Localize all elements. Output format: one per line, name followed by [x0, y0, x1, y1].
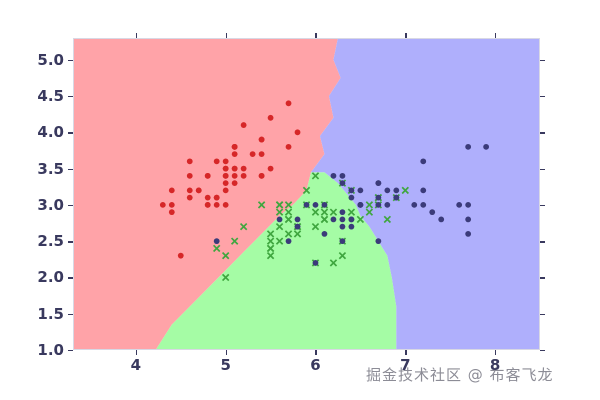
y-tick-mark — [68, 350, 73, 351]
data-point-circle — [375, 195, 381, 201]
data-point-circle — [384, 202, 390, 208]
data-point-circle — [393, 195, 399, 201]
data-point-circle — [277, 217, 283, 223]
data-point-circle — [331, 173, 337, 179]
y-tick-label: 4.0 — [18, 123, 64, 141]
data-point-circle — [340, 217, 346, 223]
data-point-x — [285, 202, 291, 208]
data-point-circle — [375, 180, 381, 186]
data-point-circle — [349, 195, 355, 201]
data-point-circle — [420, 187, 426, 193]
data-point-circle — [250, 151, 256, 157]
y-tick-mark-right — [540, 205, 545, 206]
data-point-circle — [286, 238, 292, 244]
data-point-circle — [465, 217, 471, 223]
data-point-x — [312, 173, 318, 179]
data-point-circle — [241, 122, 247, 128]
data-point-x — [241, 224, 247, 230]
data-point-x — [267, 245, 273, 251]
data-point-circle — [214, 202, 220, 208]
data-point-circle — [349, 217, 355, 223]
data-point-circle — [322, 202, 328, 208]
data-point-circle — [375, 202, 381, 208]
data-point-circle — [169, 209, 175, 215]
data-point-circle — [196, 187, 202, 193]
data-point-x — [312, 209, 318, 215]
data-point-circle — [349, 187, 355, 193]
data-point-circle — [169, 202, 175, 208]
x-tick-mark — [495, 350, 496, 355]
data-point-x — [312, 224, 318, 230]
x-tick-mark-top — [405, 33, 406, 38]
data-point-x — [267, 238, 273, 244]
data-point-circle — [304, 202, 310, 208]
data-point-circle — [214, 158, 220, 164]
data-point-circle — [241, 173, 247, 179]
data-point-x — [276, 202, 282, 208]
data-point-circle — [340, 173, 346, 179]
data-point-circle — [357, 187, 363, 193]
data-point-circle — [313, 260, 319, 266]
y-tick-label: 2.5 — [18, 232, 64, 250]
y-tick-mark — [68, 205, 73, 206]
plot-area[interactable] — [73, 38, 540, 350]
data-point-circle — [465, 202, 471, 208]
data-point-circle — [286, 100, 292, 106]
series-versicolor — [214, 173, 409, 281]
data-point-circle — [187, 158, 193, 164]
y-tick-mark-right — [540, 60, 545, 61]
data-point-circle — [232, 144, 238, 150]
data-point-circle — [420, 202, 426, 208]
data-point-x — [285, 209, 291, 215]
data-point-x — [267, 253, 273, 259]
data-point-circle — [259, 151, 265, 157]
series-setosa — [160, 100, 301, 258]
y-tick-label: 3.0 — [18, 196, 64, 214]
y-tick-mark-right — [540, 314, 545, 315]
x-tick-mark — [315, 350, 316, 355]
y-tick-mark-right — [540, 169, 545, 170]
y-tick-label: 1.5 — [18, 305, 64, 323]
data-point-circle — [295, 217, 301, 223]
data-point-x — [214, 245, 220, 251]
x-tick-mark — [405, 350, 406, 355]
data-point-circle — [214, 195, 220, 201]
data-point-circle — [241, 166, 247, 172]
data-point-x — [285, 216, 291, 222]
data-point-circle — [384, 187, 390, 193]
data-point-x — [223, 274, 229, 280]
data-point-circle — [349, 224, 355, 230]
x-tick-label: 6 — [295, 356, 335, 374]
x-tick-mark-top — [495, 33, 496, 38]
data-point-circle — [187, 195, 193, 201]
data-point-x — [366, 209, 372, 215]
data-point-circle — [259, 173, 265, 179]
data-point-circle — [187, 187, 193, 193]
data-point-circle — [286, 144, 292, 150]
data-point-x — [232, 238, 238, 244]
y-tick-label: 4.5 — [18, 87, 64, 105]
data-point-circle — [331, 217, 337, 223]
data-point-x — [303, 187, 309, 193]
data-point-circle — [214, 238, 220, 244]
data-point-x — [357, 216, 363, 222]
data-point-circle — [169, 187, 175, 193]
x-tick-label: 5 — [206, 356, 246, 374]
data-point-circle — [340, 209, 346, 215]
data-point-circle — [465, 231, 471, 237]
y-tick-mark — [68, 277, 73, 278]
data-point-x — [366, 202, 372, 208]
data-point-circle — [187, 173, 193, 179]
data-point-circle — [357, 202, 363, 208]
data-point-circle — [223, 187, 229, 193]
data-point-x — [402, 187, 408, 193]
y-tick-mark-right — [540, 241, 545, 242]
data-point-x — [321, 216, 327, 222]
y-tick-mark — [68, 241, 73, 242]
data-point-circle — [160, 202, 166, 208]
data-point-x — [330, 260, 336, 266]
y-tick-mark-right — [540, 96, 545, 97]
figure-canvas: 掘金技术社区 @ 布客飞龙 1.01.52.02.53.03.54.04.55.… — [0, 0, 600, 400]
data-point-circle — [438, 217, 444, 223]
y-tick-mark-right — [540, 132, 545, 133]
data-point-circle — [268, 115, 274, 121]
data-point-circle — [313, 202, 319, 208]
y-tick-label: 2.0 — [18, 268, 64, 286]
x-tick-mark — [136, 350, 137, 355]
x-tick-mark — [226, 350, 227, 355]
data-point-x — [384, 216, 390, 222]
data-point-x — [223, 253, 229, 259]
y-tick-mark-right — [540, 277, 545, 278]
data-point-x — [258, 202, 264, 208]
data-point-circle — [340, 180, 346, 186]
y-tick-label: 1.0 — [18, 341, 64, 359]
x-tick-mark-top — [226, 33, 227, 38]
data-point-circle — [223, 166, 229, 172]
y-tick-mark-right — [540, 350, 545, 351]
data-point-circle — [340, 224, 346, 230]
data-point-x — [348, 209, 354, 215]
y-tick-mark — [68, 169, 73, 170]
data-point-circle — [223, 180, 229, 186]
data-point-x — [285, 231, 291, 237]
data-point-circle — [393, 187, 399, 193]
data-point-circle — [205, 173, 211, 179]
data-point-circle — [483, 144, 489, 150]
data-point-x — [339, 253, 345, 259]
data-point-circle — [429, 209, 435, 215]
data-point-circle — [232, 166, 238, 172]
data-point-circle — [411, 202, 417, 208]
data-point-circle — [465, 144, 471, 150]
scatter-point-layer — [73, 38, 540, 350]
data-point-circle — [268, 166, 274, 172]
data-point-circle — [420, 158, 426, 164]
data-point-circle — [223, 173, 229, 179]
data-point-x — [321, 209, 327, 215]
data-point-x — [276, 224, 282, 230]
data-point-circle — [295, 129, 301, 135]
data-point-x — [276, 238, 282, 244]
y-tick-mark — [68, 132, 73, 133]
data-point-circle — [205, 202, 211, 208]
x-tick-label: 8 — [475, 356, 515, 374]
data-point-circle — [205, 195, 211, 201]
y-tick-mark — [68, 60, 73, 61]
data-point-circle — [322, 231, 328, 237]
y-tick-mark — [68, 96, 73, 97]
data-point-circle — [259, 137, 265, 143]
data-point-circle — [375, 238, 381, 244]
series-virginica — [214, 144, 489, 266]
y-tick-label: 3.5 — [18, 160, 64, 178]
x-tick-label: 7 — [385, 356, 425, 374]
data-point-circle — [232, 173, 238, 179]
data-point-circle — [178, 253, 184, 259]
data-point-circle — [223, 202, 229, 208]
data-point-circle — [232, 180, 238, 186]
y-tick-label: 5.0 — [18, 51, 64, 69]
x-tick-label: 4 — [116, 356, 156, 374]
y-tick-mark — [68, 314, 73, 315]
x-tick-mark-top — [315, 33, 316, 38]
data-point-x — [294, 231, 300, 237]
data-point-circle — [340, 238, 346, 244]
data-point-circle — [223, 158, 229, 164]
data-point-circle — [232, 151, 238, 157]
x-tick-mark-top — [136, 33, 137, 38]
data-point-x — [276, 209, 282, 215]
data-point-x — [267, 231, 273, 237]
data-point-x — [330, 209, 336, 215]
data-point-circle — [295, 224, 301, 230]
data-point-circle — [456, 202, 462, 208]
